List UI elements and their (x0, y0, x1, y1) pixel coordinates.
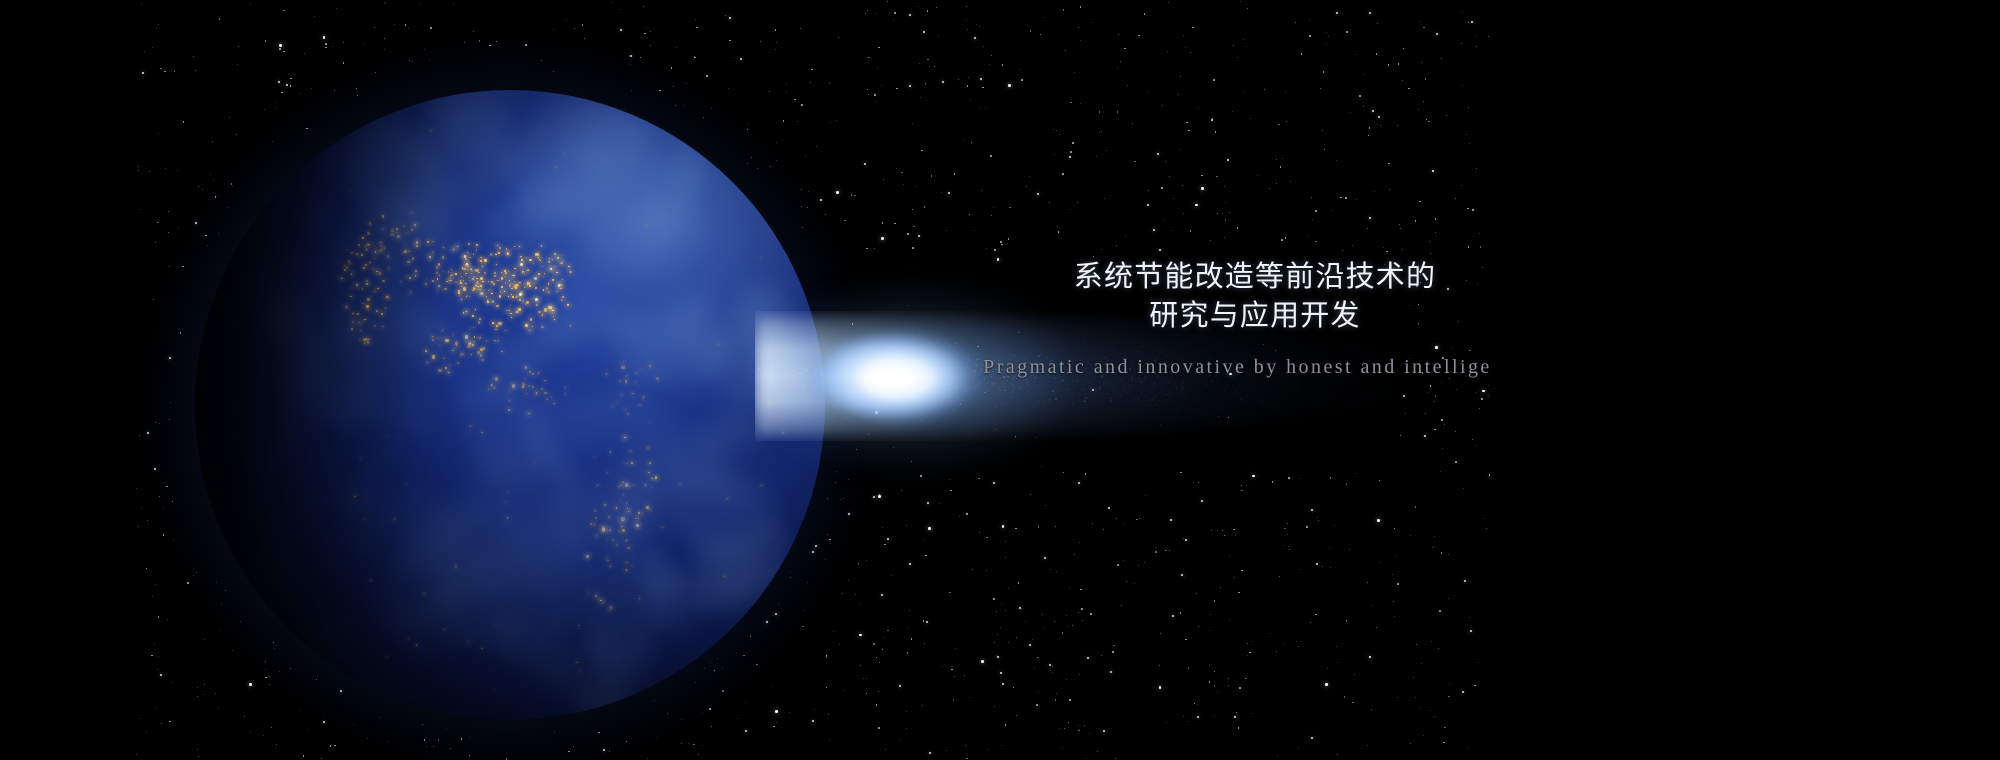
globe-atmosphere-rim-gold (193, 88, 827, 722)
headline-line-1: 系统节能改造等前沿技术的 (945, 258, 1565, 297)
letterbox-right (1490, 0, 2000, 760)
hero-banner: 系统节能改造等前沿技术的 研究与应用开发 Pragmatic and innov… (0, 0, 2000, 760)
headline-line-2: 研究与应用开发 (945, 297, 1565, 336)
tagline: Pragmatic and innovative by honest and i… (945, 356, 1565, 379)
space-photo-band (135, 0, 1490, 760)
letterbox-left (0, 0, 135, 760)
earth-night-globe (195, 90, 825, 720)
banner-text-block: 系统节能改造等前沿技术的 研究与应用开发 Pragmatic and innov… (945, 258, 1565, 379)
